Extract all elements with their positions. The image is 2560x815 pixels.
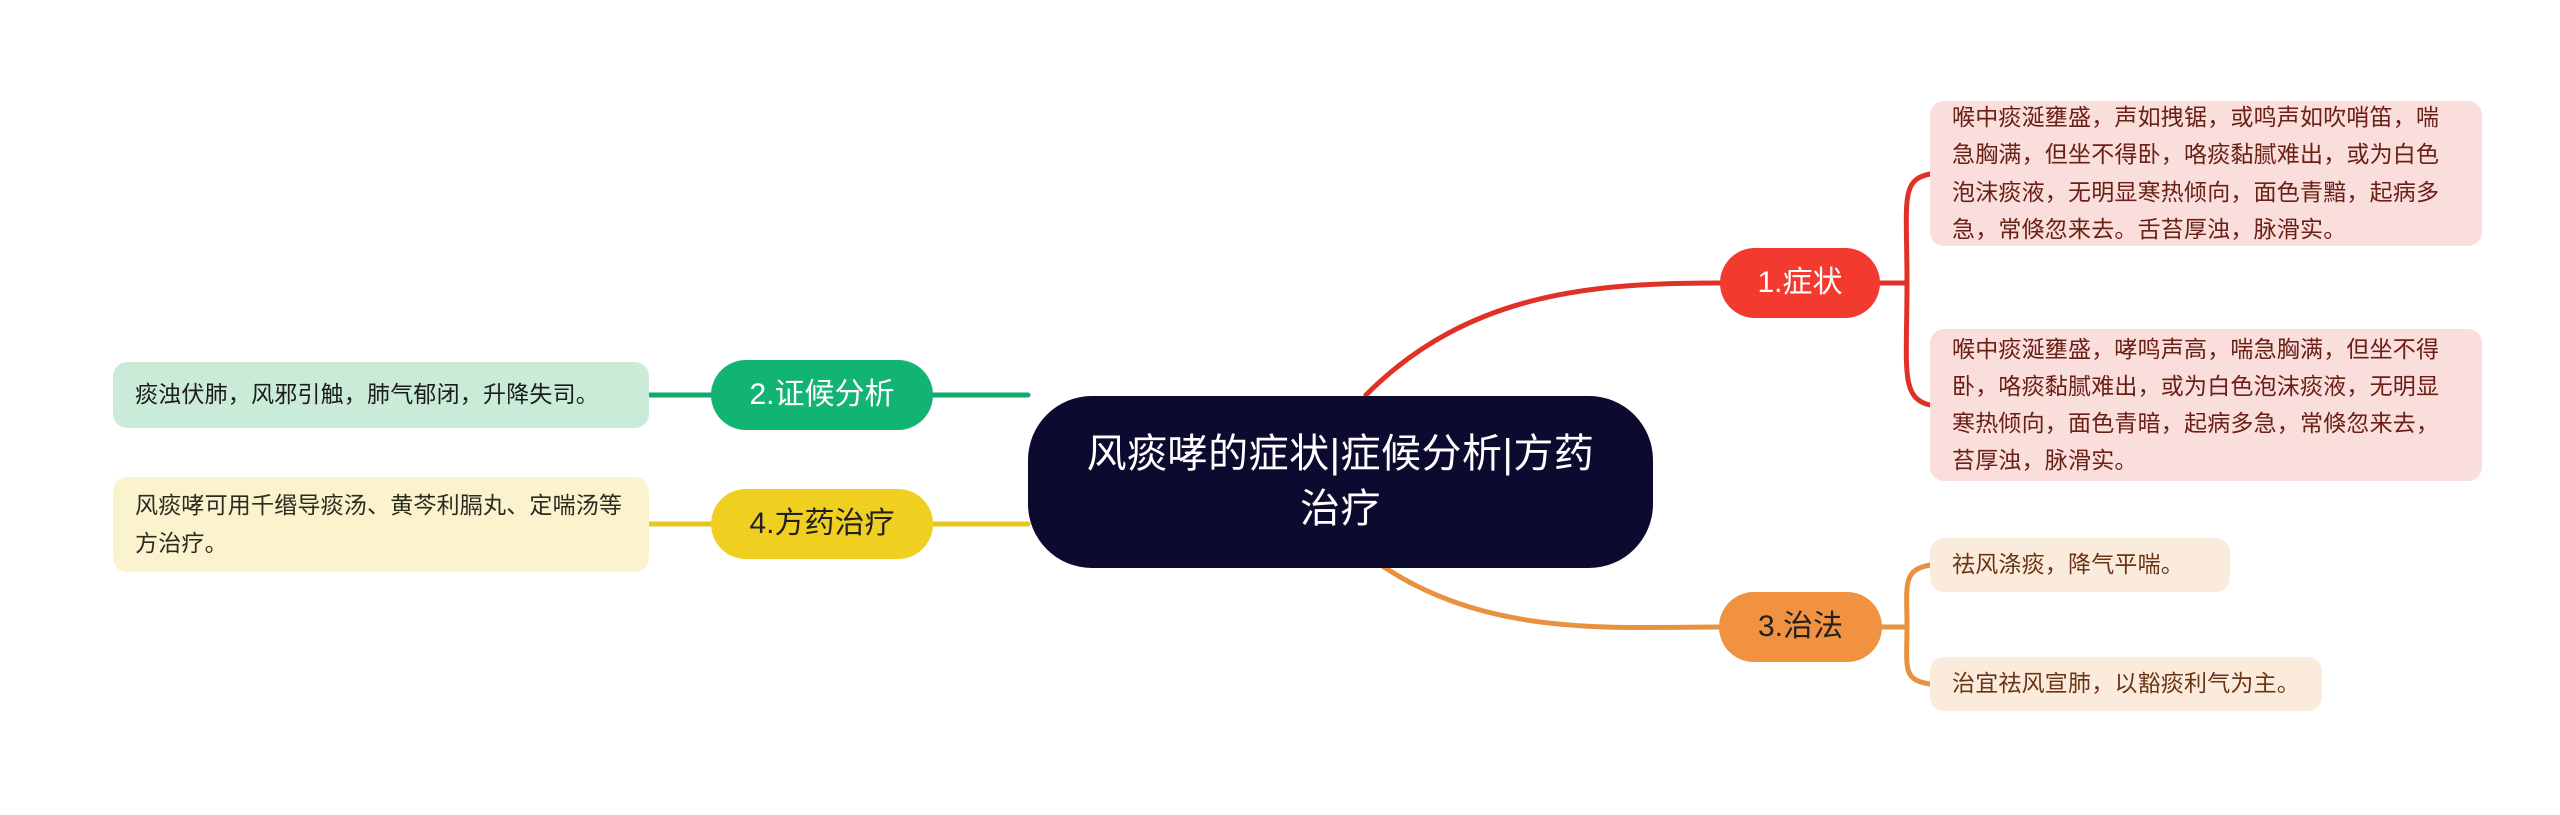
- edge-symptom-to-detail-1: [1906, 174, 1930, 283]
- branch-node-formula[interactable]: 4.方药治疗: [711, 489, 933, 559]
- leaf-node-treatment-detail-1[interactable]: 祛风涤痰，降气平喘。: [1930, 538, 2230, 592]
- branch-node-symptom[interactable]: 1.症状: [1720, 248, 1880, 318]
- edge-treatment-to-detail-1: [1907, 565, 1930, 627]
- leaf-node-symptom-detail-1[interactable]: 喉中痰涎壅盛，声如拽锯，或鸣声如吹哨笛，喘急胸满，但坐不得卧，咯痰黏腻难出，或为…: [1930, 101, 2482, 246]
- leaf-node-formula-detail-1[interactable]: 风痰哮可用千缗导痰汤、黄芩利膈丸、定喘汤等方治疗。: [113, 477, 649, 572]
- edge-treatment-to-detail-2: [1907, 627, 1930, 684]
- leaf-node-treatment-detail-2[interactable]: 治宜祛风宣肺，以豁痰利气为主。: [1930, 657, 2322, 711]
- leaf-node-symptom-detail-2[interactable]: 喉中痰涎壅盛，哮鸣声高，喘急胸满，但坐不得卧，咯痰黏腻难出，或为白色泡沫痰液，无…: [1930, 329, 2482, 481]
- mindmap-canvas: 风痰哮的症状|症候分析|方药治疗 1.症状 喉中痰涎壅盛，声如拽锯，或鸣声如吹哨…: [0, 0, 2560, 815]
- leaf-node-analysis-detail-1[interactable]: 痰浊伏肺，风邪引触，肺气郁闭，升降失司。: [113, 362, 649, 428]
- edge-symptom-to-detail-2: [1906, 283, 1930, 405]
- edge-root-to-symptom: [1366, 283, 1720, 395]
- branch-node-analysis[interactable]: 2.证候分析: [711, 360, 933, 430]
- branch-node-treatment[interactable]: 3.治法: [1719, 592, 1882, 662]
- root-node[interactable]: 风痰哮的症状|症候分析|方药治疗: [1028, 396, 1653, 568]
